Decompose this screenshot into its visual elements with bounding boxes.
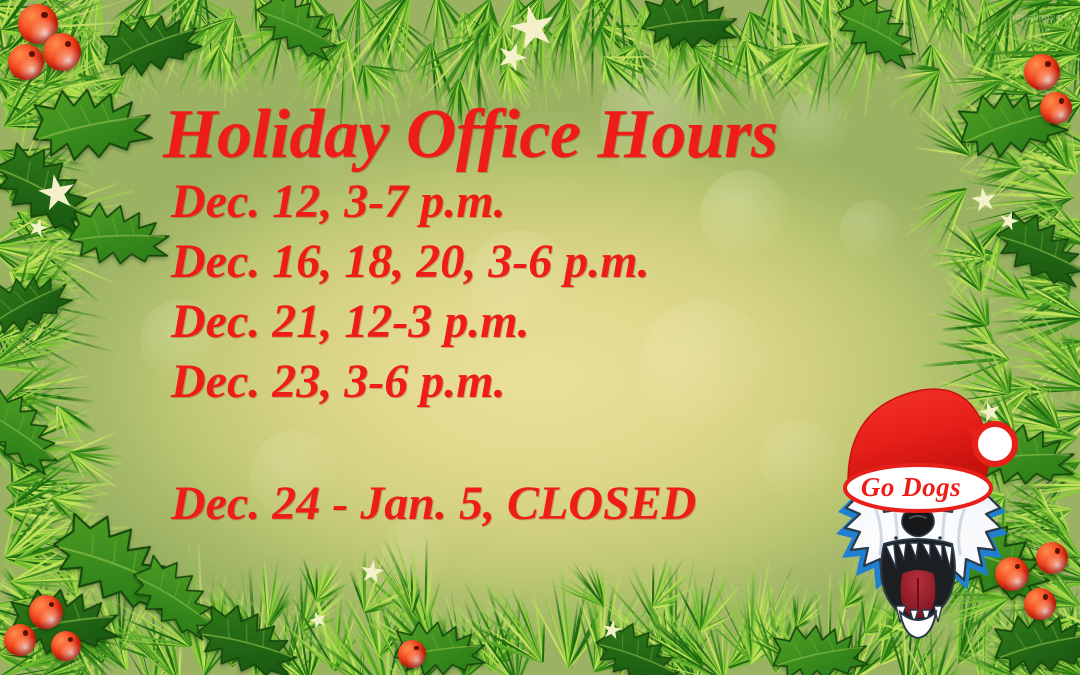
- pine-frond: [10, 220, 131, 238]
- pine-frond: [618, 595, 633, 675]
- pine-frond: [485, 18, 493, 75]
- pine-frond: [183, 15, 237, 83]
- pine-frond: [974, 148, 1080, 163]
- pine-frond: [202, 555, 219, 675]
- pine-frond: [961, 85, 1036, 98]
- pine-frond: [661, 588, 726, 675]
- pine-frond: [993, 0, 1053, 4]
- decorative-star: [493, 38, 531, 76]
- pine-frond: [436, 0, 457, 79]
- pine-frond: [962, 30, 1017, 86]
- holly-berry: [398, 640, 426, 668]
- holiday-hours-poster: Holiday Office Hours Dec. 12, 3-7 p.m. D…: [0, 0, 1080, 675]
- pine-frond: [930, 45, 943, 105]
- pine-frond: [514, 0, 531, 100]
- pine-frond: [483, 576, 518, 675]
- pine-frond: [939, 0, 960, 73]
- pine-frond: [0, 643, 87, 656]
- pine-frond: [3, 517, 84, 560]
- holly-leaf: [245, 0, 355, 67]
- decorative-star: [26, 216, 50, 240]
- pine-frond: [1003, 220, 1080, 269]
- pine-frond: [488, 591, 500, 671]
- pine-frond: [228, 592, 253, 666]
- pine-frond: [148, 0, 206, 73]
- pine-frond: [60, 44, 83, 119]
- pine-frond: [3, 71, 82, 128]
- pine-frond: [8, 245, 93, 324]
- pine-frond: [995, 639, 1047, 657]
- pine-frond: [918, 78, 1004, 96]
- pine-frond: [644, 3, 675, 83]
- pine-frond: [1022, 279, 1072, 316]
- pine-frond: [43, 0, 98, 5]
- pine-frond: [0, 392, 83, 416]
- pine-frond: [205, 576, 222, 627]
- pine-frond: [825, 9, 881, 110]
- pine-frond: [772, 594, 804, 667]
- pine-frond: [599, 0, 622, 99]
- pine-frond: [254, 566, 273, 675]
- pine-frond: [1007, 0, 1080, 8]
- pine-frond: [8, 484, 82, 513]
- pine-frond: [1019, 473, 1080, 488]
- pine-frond: [0, 39, 22, 129]
- pine-frond: [410, 567, 420, 675]
- pine-frond: [314, 544, 340, 601]
- pine-frond: [0, 76, 87, 133]
- schedule-line-5-closed: Dec. 24 - Jan. 5, CLOSED: [163, 474, 963, 534]
- pine-frond: [463, 0, 492, 84]
- pine-frond: [97, 0, 153, 97]
- pine-frond: [0, 628, 55, 666]
- decorative-star: [307, 609, 330, 632]
- decorative-star: [506, 1, 561, 56]
- holly-berry: [1024, 588, 1056, 620]
- pine-frond: [394, 542, 414, 613]
- pine-frond: [130, 604, 156, 661]
- pine-frond: [592, 578, 656, 672]
- pine-frond: [567, 549, 606, 608]
- pine-frond: [217, 28, 284, 86]
- pine-frond: [171, 24, 211, 91]
- pine-frond: [0, 292, 58, 343]
- pine-frond: [36, 7, 127, 28]
- pine-frond: [968, 645, 1080, 675]
- pine-frond: [83, 38, 89, 102]
- pine-frond: [743, 565, 753, 662]
- pine-frond: [1008, 120, 1078, 176]
- pine-frond: [199, 580, 258, 642]
- pine-frond: [280, 0, 330, 96]
- pine-frond: [1050, 562, 1065, 644]
- pine-frond: [66, 565, 128, 671]
- pine-frond: [698, 561, 734, 632]
- pine-frond: [0, 244, 103, 256]
- pine-frond: [46, 550, 77, 669]
- pine-frond: [1014, 39, 1031, 143]
- pine-frond: [17, 209, 113, 261]
- pine-frond: [643, 609, 703, 668]
- pine-frond: [999, 644, 1074, 656]
- pine-frond: [677, 27, 727, 86]
- pine-frond: [10, 580, 114, 591]
- pine-frond: [46, 3, 105, 90]
- pine-frond: [954, 177, 1073, 200]
- pine-frond: [1026, 619, 1072, 662]
- holly-berry: [1036, 542, 1068, 574]
- pine-frond: [755, 46, 797, 83]
- pine-frond: [72, 11, 95, 135]
- decorative-star: [969, 185, 998, 214]
- pine-frond: [53, 617, 102, 675]
- pine-frond: [33, 611, 76, 666]
- pine-frond: [0, 44, 30, 113]
- holly-leaf: [61, 191, 179, 274]
- pine-frond: [0, 172, 78, 183]
- schedule-line-2: Dec. 16, 18, 20, 3-6 p.m.: [163, 232, 963, 292]
- pine-frond: [486, 577, 544, 664]
- pine-frond: [995, 74, 1047, 78]
- pine-frond: [176, 0, 231, 87]
- pine-frond: [20, 15, 32, 115]
- pine-frond: [69, 450, 141, 481]
- pine-frond: [377, 563, 397, 658]
- pine-frond: [8, 627, 59, 644]
- pine-frond: [1003, 628, 1080, 644]
- pine-frond: [990, 268, 1077, 303]
- pine-frond: [1041, 617, 1080, 675]
- pine-frond: [550, 13, 573, 91]
- decorative-star: [358, 558, 385, 585]
- pine-frond: [0, 0, 108, 32]
- pine-frond: [0, 560, 30, 605]
- pine-frond: [748, 559, 794, 664]
- holly-leaf: [586, 614, 694, 675]
- pine-frond: [1007, 28, 1073, 78]
- pine-frond: [0, 45, 25, 83]
- schedule-line-4: Dec. 23, 3-6 p.m.: [163, 352, 963, 412]
- holly-leaf: [190, 598, 311, 675]
- holly-berry: [43, 33, 81, 71]
- schedule-line-1: Dec. 12, 3-7 p.m.: [163, 172, 963, 232]
- pine-frond: [15, 247, 85, 276]
- pine-frond: [462, 593, 478, 675]
- pine-frond: [505, 0, 544, 104]
- pine-frond: [67, 78, 126, 124]
- pine-frond: [39, 248, 97, 311]
- holly-leaf: [0, 248, 82, 351]
- pine-frond: [497, 28, 505, 105]
- holly-leaf: [18, 62, 167, 179]
- holly-leaf: [632, 0, 747, 60]
- pine-frond: [150, 611, 160, 675]
- pine-frond: [800, 0, 870, 92]
- pine-frond: [1015, 412, 1080, 434]
- pine-frond: [774, 0, 796, 93]
- pine-frond: [493, 625, 529, 663]
- watermark: hdwallpapers: [1010, 12, 1070, 22]
- pine-frond: [16, 439, 94, 447]
- pine-frond: [1000, 76, 1077, 95]
- pine-frond: [214, 9, 232, 109]
- pine-frond: [388, 574, 436, 658]
- pine-frond: [8, 142, 86, 200]
- holly-leaf: [985, 203, 1080, 294]
- pine-frond: [1000, 259, 1066, 287]
- pine-frond: [1017, 108, 1070, 171]
- pine-frond: [0, 148, 86, 195]
- pine-frond: [91, 601, 102, 663]
- pine-frond: [20, 563, 84, 670]
- pine-frond: [1035, 45, 1080, 85]
- pine-frond: [306, 0, 325, 72]
- pine-frond: [52, 496, 108, 512]
- decorative-star: [600, 618, 623, 641]
- pine-frond: [986, 291, 1070, 296]
- pine-frond: [2, 91, 122, 104]
- pine-frond: [972, 9, 1012, 115]
- pine-frond: [987, 100, 1080, 124]
- pine-frond: [1000, 665, 1068, 675]
- pine-frond: [566, 569, 583, 668]
- pine-frond: [0, 324, 95, 368]
- pine-frond: [10, 268, 82, 303]
- pine-frond: [987, 205, 1064, 236]
- pine-frond: [5, 504, 102, 512]
- pine-frond: [1044, 576, 1080, 642]
- pine-frond: [41, 60, 135, 93]
- pine-frond: [599, 580, 625, 662]
- pine-frond: [852, 0, 859, 70]
- holly-berry: [8, 44, 44, 80]
- holly-leaf: [117, 544, 239, 648]
- holly-leaf: [824, 0, 935, 76]
- pine-frond: [904, 0, 917, 74]
- pine-frond: [18, 170, 64, 229]
- pine-frond: [645, 607, 700, 675]
- pine-frond: [985, 643, 1070, 675]
- holly-leaf: [87, 0, 214, 95]
- pine-frond: [0, 436, 65, 474]
- pine-frond: [11, 460, 87, 522]
- pine-frond: [326, 607, 362, 675]
- pine-frond: [655, 0, 700, 99]
- pine-frond: [658, 575, 674, 648]
- pine-frond: [294, 13, 336, 87]
- pine-frond: [727, 600, 798, 668]
- pine-frond: [343, 0, 414, 97]
- pine-frond: [44, 75, 101, 142]
- pine-frond: [318, 576, 336, 671]
- pine-frond: [143, 607, 180, 675]
- holly-berry: [1024, 54, 1060, 90]
- pine-frond: [50, 527, 78, 597]
- holly-leaf: [384, 604, 496, 675]
- pine-frond: [406, 571, 440, 668]
- pine-frond: [4, 29, 78, 56]
- pine-frond: [72, 597, 89, 675]
- pine-frond: [0, 561, 24, 668]
- pine-frond: [0, 292, 104, 326]
- pine-frond: [112, 577, 192, 648]
- pine-frond: [266, 550, 291, 626]
- pine-frond: [774, 578, 786, 674]
- pine-frond: [38, 656, 103, 675]
- pine-frond: [16, 536, 90, 565]
- pine-frond: [616, 613, 657, 668]
- pine-frond: [605, 46, 639, 95]
- pine-frond: [70, 635, 124, 675]
- pine-frond: [960, 247, 1029, 301]
- pine-frond: [657, 553, 675, 661]
- pine-frond: [1060, 590, 1080, 675]
- pine-frond: [599, 24, 666, 94]
- pine-frond: [43, 43, 80, 85]
- holly-berry: [18, 4, 58, 44]
- pine-frond: [670, 3, 677, 108]
- mascot-mouth: [881, 539, 955, 638]
- pine-frond: [0, 604, 73, 658]
- pine-frond: [0, 0, 28, 86]
- pine-frond: [300, 566, 343, 630]
- pine-frond: [1021, 197, 1080, 248]
- pine-frond: [273, 584, 310, 675]
- pine-frond: [979, 124, 1072, 166]
- decorative-star: [35, 171, 79, 215]
- pine-frond: [60, 510, 110, 546]
- pine-frond: [118, 555, 133, 650]
- holly-leaf: [943, 63, 1080, 178]
- holly-berry: [4, 624, 36, 656]
- pine-frond: [362, 550, 402, 614]
- holly-berry: [29, 595, 63, 629]
- pine-frond: [0, 0, 96, 8]
- pine-frond: [301, 40, 337, 96]
- pine-frond: [254, 0, 291, 69]
- pine-frond: [75, 72, 128, 125]
- pine-frond: [970, 55, 1036, 94]
- pine-frond: [969, 52, 1080, 68]
- schedule-line-3: Dec. 21, 12-3 p.m.: [163, 292, 963, 352]
- pine-frond: [14, 546, 94, 562]
- pine-frond: [62, 0, 101, 68]
- holly-leaf: [0, 377, 83, 483]
- decorative-star: [997, 209, 1022, 234]
- text-block: Holiday Office Hours Dec. 12, 3-7 p.m. D…: [163, 98, 963, 534]
- pine-frond: [930, 0, 959, 66]
- pine-frond: [745, 41, 804, 101]
- pine-frond: [670, 565, 706, 675]
- pine-frond: [11, 388, 96, 422]
- pine-frond: [982, 295, 1080, 320]
- holly-leaf: [0, 132, 116, 244]
- pine-frond: [650, 553, 696, 608]
- holly-berry: [51, 631, 81, 661]
- pine-frond: [556, 0, 570, 90]
- pine-frond: [936, 648, 1036, 675]
- pine-frond: [1007, 318, 1078, 368]
- pine-frond: [100, 24, 141, 90]
- pine-frond: [31, 318, 87, 348]
- pine-frond: [7, 484, 111, 501]
- page-title: Holiday Office Hours: [163, 98, 963, 172]
- pine-frond: [644, 608, 671, 675]
- pine-frond: [101, 13, 162, 72]
- pine-frond: [124, 11, 140, 98]
- pine-frond: [56, 405, 89, 457]
- pine-frond: [987, 38, 999, 126]
- pine-frond: [826, 0, 883, 90]
- pine-frond: [11, 532, 115, 574]
- pine-frond: [350, 596, 388, 675]
- pine-frond: [384, 9, 404, 93]
- pine-frond: [0, 316, 99, 375]
- pine-frond: [280, 593, 326, 675]
- pine-frond: [1022, 340, 1080, 385]
- holly-leaf: [0, 566, 132, 671]
- holly-berry: [1040, 92, 1072, 124]
- pine-frond: [388, 523, 426, 629]
- pine-frond: [53, 220, 111, 225]
